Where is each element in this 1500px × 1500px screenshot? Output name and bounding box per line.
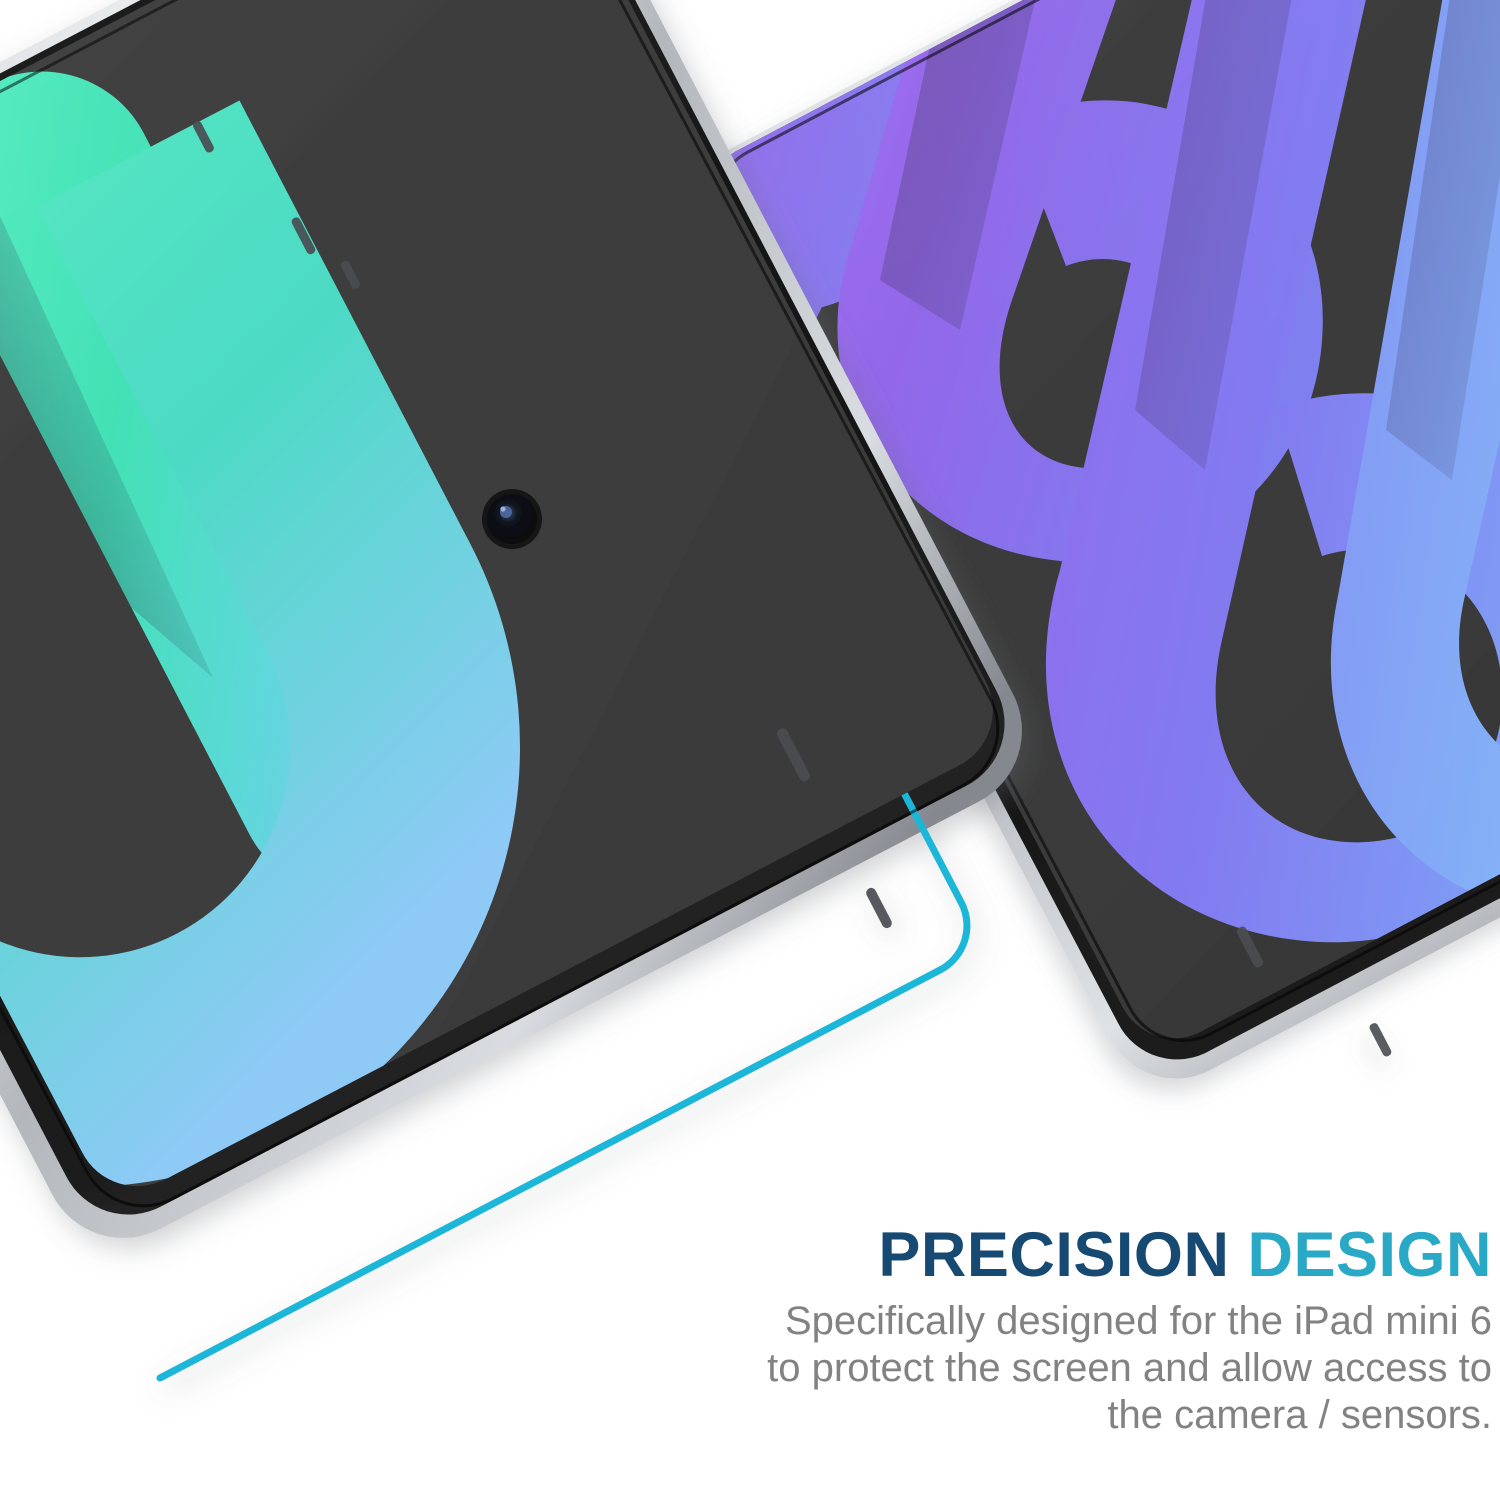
headline-word-secondary: DESIGN bbox=[1247, 1220, 1492, 1290]
subcopy: Specifically designed for the iPad mini … bbox=[660, 1298, 1492, 1439]
marketing-copy-block: PRECISION DESIGN Specifically designed f… bbox=[660, 1222, 1492, 1439]
headline: PRECISION DESIGN bbox=[660, 1222, 1492, 1288]
subcopy-line-2: to protect the screen and allow access t… bbox=[660, 1345, 1492, 1392]
subcopy-line-1: Specifically designed for the iPad mini … bbox=[660, 1298, 1492, 1345]
product-image-canvas: PRECISION DESIGN Specifically designed f… bbox=[0, 0, 1500, 1500]
left-tablet-front-camera bbox=[482, 489, 542, 549]
headline-word-primary: PRECISION bbox=[878, 1220, 1229, 1290]
subcopy-line-3: the camera / sensors. bbox=[660, 1392, 1492, 1439]
